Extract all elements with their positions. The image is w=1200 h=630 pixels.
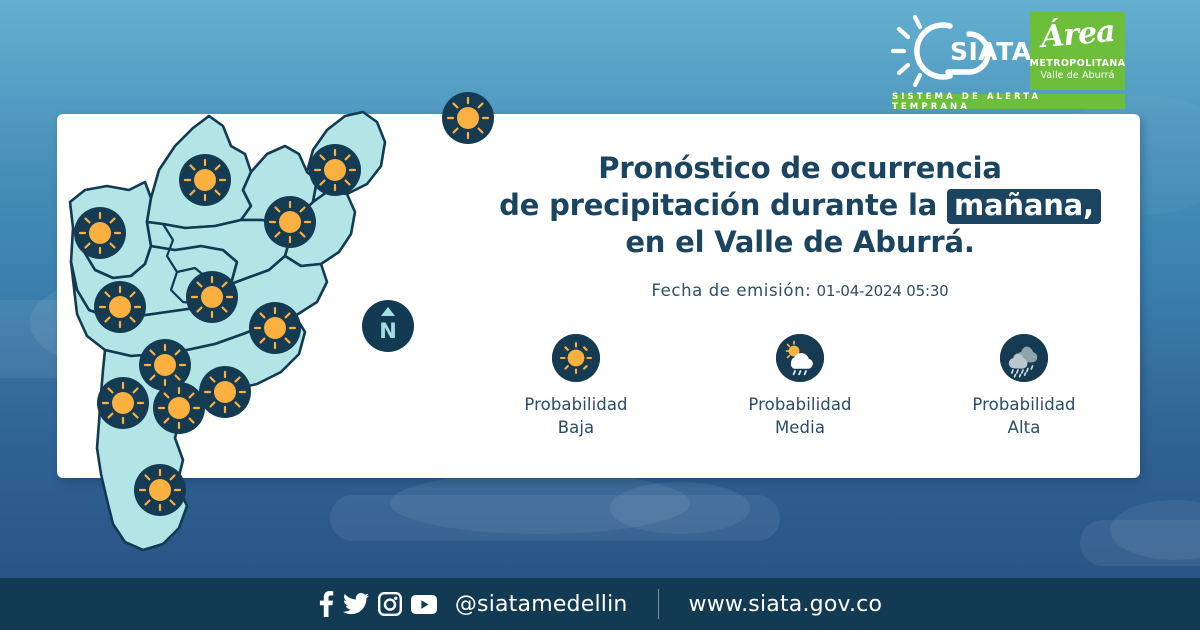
north-arrow-icon: N xyxy=(362,300,414,352)
map-marker-sun-icon xyxy=(264,196,316,248)
map-marker-sun-icon xyxy=(199,366,251,418)
map-marker-sun-icon xyxy=(97,377,149,429)
map-marker-sun-icon xyxy=(94,281,146,333)
map-marker-sun-icon xyxy=(309,144,361,196)
instagram-icon[interactable] xyxy=(378,592,402,616)
probability-legend: Probabilidad Baja xyxy=(470,334,1130,439)
legend-item-alta: Probabilidad Alta xyxy=(949,334,1099,439)
title-line-2-text: de precipitación durante la xyxy=(499,188,937,222)
legend-alta-line2: Alta xyxy=(949,417,1099,439)
amva-metropolitana-text: METROPOLITANA xyxy=(1029,58,1125,69)
emission-value: 01-04-2024 05:30 xyxy=(817,282,949,300)
infographic-canvas: SIATA Área METROPOLITANA Valle de Aburrá… xyxy=(0,0,1200,630)
legend-media-line1: Probabilidad xyxy=(725,394,875,416)
title-line-3: en el Valle de Aburrá. xyxy=(470,224,1130,261)
legend-item-media: Probabilidad Media xyxy=(725,334,875,439)
map-marker-sun-icon xyxy=(442,92,494,144)
map-marker-sun-icon xyxy=(74,207,126,259)
forecast-content: Pronóstico de ocurrencia de precipitació… xyxy=(470,150,1130,439)
legend-baja-line2: Baja xyxy=(501,417,651,439)
siata-wordmark: SIATA xyxy=(950,37,1030,66)
map-marker-sun-icon xyxy=(186,271,238,323)
cloud-rain-icon xyxy=(1000,334,1048,382)
map-marker-sun-icon xyxy=(179,154,231,206)
legend-label-alta: Probabilidad Alta xyxy=(949,394,1099,439)
emission-label: Fecha de emisión: xyxy=(651,281,811,300)
valle-de-aburra-map: N xyxy=(55,50,395,580)
title-line-1: Pronóstico de ocurrencia xyxy=(470,150,1130,187)
legend-item-baja: Probabilidad Baja xyxy=(501,334,651,439)
map-marker-sun-icon xyxy=(134,464,186,516)
page-title: Pronóstico de ocurrencia de precipitació… xyxy=(470,150,1130,261)
social-icons xyxy=(318,591,437,617)
footer-divider xyxy=(658,589,659,619)
tagline-banner: SISTEMA DE ALERTA TEMPRANA xyxy=(892,94,1125,109)
legend-alta-line1: Probabilidad xyxy=(949,394,1099,416)
footer-bar: @siatamedellin www.siata.gov.co xyxy=(0,578,1200,630)
sun-icon xyxy=(552,334,600,382)
title-line-2: de precipitación durante la mañana, xyxy=(470,187,1130,224)
amva-script-text: Área xyxy=(1040,17,1116,53)
legend-label-baja: Probabilidad Baja xyxy=(501,394,651,439)
legend-media-line2: Media xyxy=(725,417,875,439)
period-highlight: mañana, xyxy=(947,189,1101,224)
emission-date: Fecha de emisión: 01-04-2024 05:30 xyxy=(470,281,1130,300)
facebook-icon[interactable] xyxy=(318,591,334,617)
siata-logo: SIATA xyxy=(890,12,1030,90)
twitter-icon[interactable] xyxy=(343,593,369,615)
amva-logo: Área METROPOLITANA Valle de Aburrá xyxy=(1030,12,1125,90)
amva-valle-text: Valle de Aburrá xyxy=(1040,70,1114,81)
social-handle[interactable]: @siatamedellin xyxy=(455,592,628,617)
website-url[interactable]: www.siata.gov.co xyxy=(689,592,883,617)
compass-label: N xyxy=(379,321,397,342)
legend-label-media: Probabilidad Media xyxy=(725,394,875,439)
map-marker-sun-icon xyxy=(153,382,205,434)
logo-group: SIATA Área METROPOLITANA Valle de Aburrá… xyxy=(890,12,1130,112)
map-marker-sun-icon xyxy=(249,302,301,354)
youtube-icon[interactable] xyxy=(411,595,437,614)
sun-cloud-rain-icon xyxy=(776,334,824,382)
background-cloud-icon xyxy=(610,482,750,534)
legend-baja-line1: Probabilidad xyxy=(501,394,651,416)
